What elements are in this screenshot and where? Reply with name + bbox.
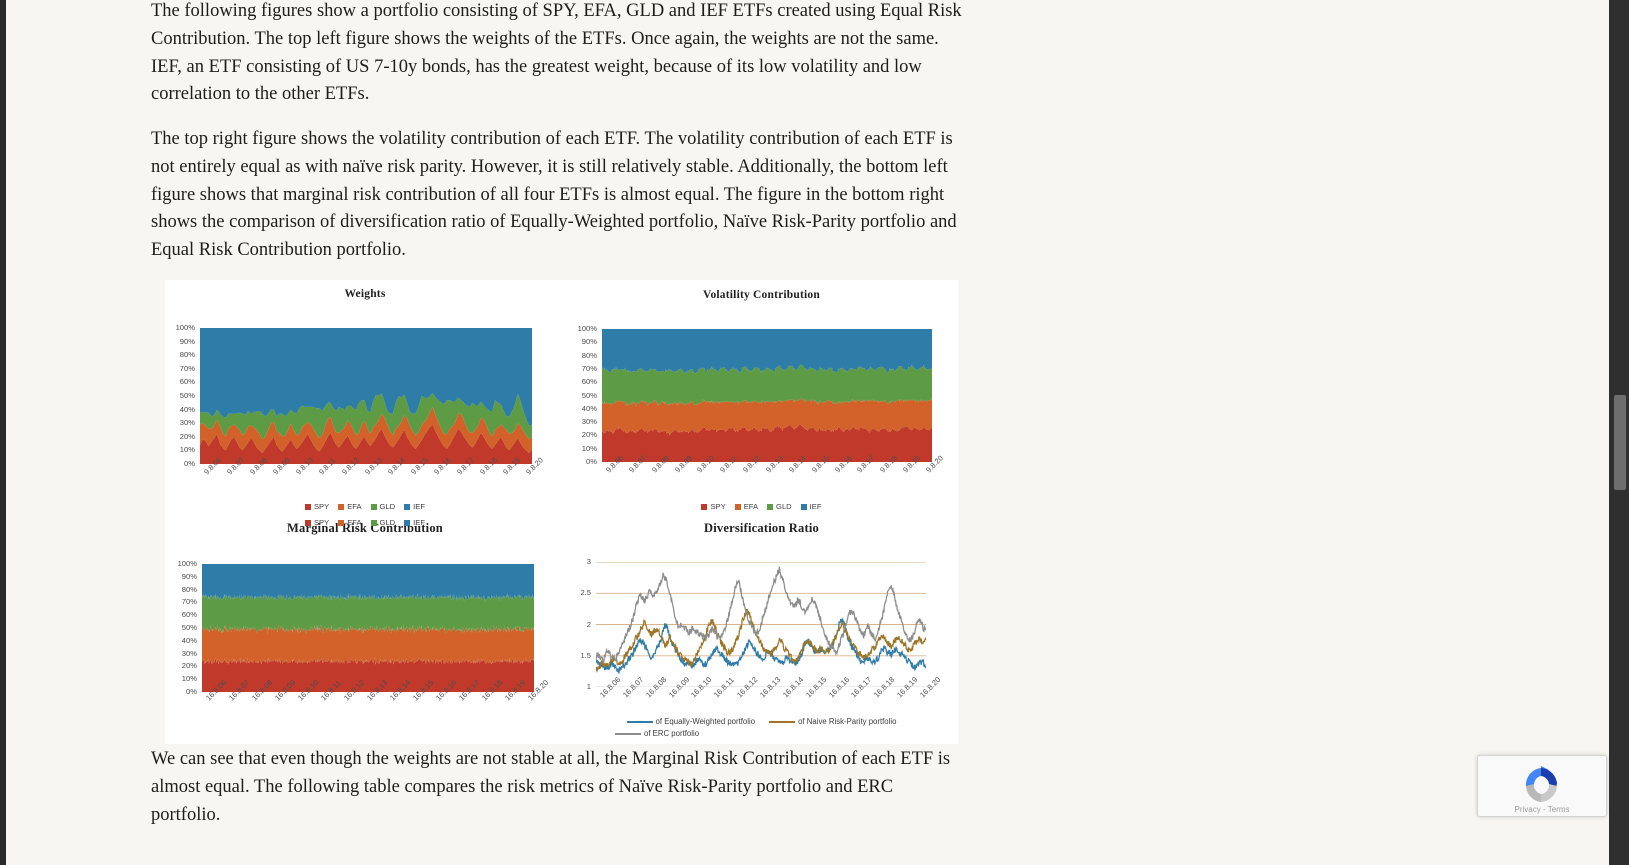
y-tick-label: 2.5: [580, 589, 591, 597]
chart-volatility-y-axis: 0%10%20%30%40%50%60%70%80%90%100%: [565, 329, 597, 462]
y-tick-label: 80%: [182, 586, 197, 594]
legend-label: of ERC portfolio: [644, 728, 699, 740]
y-tick-label: 40%: [582, 405, 597, 413]
y-tick-label: 0%: [186, 688, 197, 696]
page-root: The following figures show a portfolio c…: [0, 0, 1629, 865]
legend-item: GLD: [767, 502, 792, 511]
chart-weights-plot: [200, 328, 532, 464]
y-tick-label: 2: [587, 621, 591, 629]
legend-item: EFA: [735, 502, 758, 511]
legend-swatch: [305, 520, 311, 526]
recaptcha-logo-icon: [1518, 762, 1564, 808]
legend-label: SPY: [314, 502, 329, 511]
legend-item: SPY: [305, 502, 329, 511]
y-tick-label: 100%: [178, 560, 197, 568]
legend-swatch: [404, 520, 410, 526]
chart-weights-title: Weights: [165, 280, 565, 300]
legend-label: IEF: [413, 502, 425, 511]
stacked-area-svg: [202, 564, 534, 692]
chart-dr-plot: [596, 562, 926, 687]
legend-label: EFA: [347, 502, 361, 511]
legend-item: GLD: [371, 502, 396, 511]
chart-mrc-legend: SPYEFAGLDIEF: [165, 518, 565, 527]
y-tick-label: 20%: [182, 663, 197, 671]
chart-marginal-risk-contribution: Marginal Risk Contribution 0%10%20%30%40…: [165, 518, 565, 744]
chart-weights-legend: SPYEFAGLDIEF: [165, 502, 565, 511]
legend-label: GLD: [380, 518, 396, 527]
legend-swatch: [404, 504, 410, 510]
legend-swatch: [338, 520, 344, 526]
chart-dr-legend: of Equally-Weighted portfolioof Naive Ri…: [565, 716, 958, 740]
y-tick-label: 30%: [180, 419, 195, 427]
y-tick-label: 10%: [180, 447, 195, 455]
legend-line: [615, 733, 641, 735]
y-tick-label: 50%: [180, 392, 195, 400]
y-tick-label: 30%: [582, 418, 597, 426]
chart-weights-y-axis: 0%10%20%30%40%50%60%70%80%90%100%: [165, 328, 195, 464]
legend-item: EFA: [338, 518, 361, 527]
legend-item: IEF: [404, 518, 425, 527]
paragraph-conclusion: We can see that even though the weights …: [151, 746, 966, 829]
legend-label: SPY: [710, 502, 725, 511]
legend-row: of Equally-Weighted portfolioof Naive Ri…: [565, 716, 958, 728]
area-series-spy: [602, 424, 932, 462]
chart-volatility-plot: [602, 329, 932, 462]
chart-mrc-y-axis: 0%10%20%30%40%50%60%70%80%90%100%: [165, 564, 197, 692]
y-tick-label: 70%: [582, 365, 597, 373]
legend-label: IEF: [413, 518, 425, 527]
recaptcha-footer: Privacy - Terms: [1478, 805, 1606, 814]
y-tick-label: 0%: [184, 460, 195, 468]
legend-line: [769, 721, 795, 723]
area-series-ief: [602, 329, 932, 373]
area-series-spy: [202, 657, 534, 692]
y-tick-label: 80%: [582, 352, 597, 360]
y-tick-label: 100%: [578, 325, 597, 333]
chart-dr-y-axis: 11.522.53: [565, 562, 591, 687]
legend-item: GLD: [371, 518, 396, 527]
chart-mrc-x-axis: 16.8.0616.8.0716.8.0816.8.0916.8.1016.8.…: [202, 696, 534, 736]
stacked-area-svg: [200, 328, 532, 464]
legend-item: of Naive Risk-Parity portfolio: [769, 716, 896, 728]
chart-dr-title: Diversification Ratio: [565, 518, 958, 536]
legend-label: EFA: [744, 502, 758, 511]
area-series-efa: [202, 624, 534, 664]
legend-swatch: [305, 504, 311, 510]
legend-swatch: [767, 504, 773, 510]
y-tick-label: 100%: [176, 324, 195, 332]
y-tick-label: 30%: [182, 650, 197, 658]
stacked-area-svg: [602, 329, 932, 462]
legend-label: GLD: [380, 502, 396, 511]
chart-volatility-contribution: Volatility Contribution 0%10%20%30%40%50…: [565, 283, 958, 518]
y-tick-label: 90%: [180, 338, 195, 346]
legend-item: of Equally-Weighted portfolio: [627, 716, 756, 728]
y-tick-label: 10%: [582, 445, 597, 453]
legend-label: of Equally-Weighted portfolio: [656, 716, 756, 728]
y-tick-label: 1.5: [580, 652, 591, 660]
paragraph-volatility: The top right figure shows the volatilit…: [151, 126, 966, 265]
line-chart-svg: [596, 562, 926, 687]
y-tick-label: 50%: [582, 392, 597, 400]
legend-line: [627, 721, 653, 723]
y-tick-label: 90%: [182, 573, 197, 581]
y-tick-label: 60%: [182, 611, 197, 619]
line-series: [596, 609, 926, 671]
y-tick-label: 10%: [182, 675, 197, 683]
chart-weights: Weights 0%10%20%30%40%50%60%70%80%90%100…: [165, 280, 565, 518]
legend-item: IEF: [801, 502, 822, 511]
y-tick-label: 3: [587, 558, 591, 566]
y-tick-label: 80%: [180, 351, 195, 359]
legend-label: of Naive Risk-Parity portfolio: [798, 716, 896, 728]
chart-mrc-plot: [202, 564, 534, 692]
paragraph-intro: The following figures show a portfolio c…: [151, 0, 969, 109]
legend-swatch: [801, 504, 807, 510]
y-tick-label: 0%: [586, 458, 597, 466]
legend-swatch: [338, 504, 344, 510]
legend-swatch: [701, 504, 707, 510]
y-tick-label: 20%: [180, 433, 195, 441]
y-tick-label: 20%: [582, 432, 597, 440]
figure-erc-charts: Weights 0%10%20%30%40%50%60%70%80%90%100…: [165, 280, 958, 744]
legend-label: IEF: [810, 502, 822, 511]
y-tick-label: 40%: [180, 406, 195, 414]
page-left-edge: [0, 0, 6, 865]
y-tick-label: 60%: [582, 378, 597, 386]
legend-item: SPY: [305, 518, 329, 527]
legend-label: GLD: [776, 502, 792, 511]
chart-diversification-ratio: Diversification Ratio 11.522.53 16.8.061…: [565, 518, 958, 744]
chart-volatility-legend: SPYEFAGLDIEF: [565, 502, 958, 511]
legend-item: of ERC portfolio: [615, 728, 699, 740]
legend-item: SPY: [701, 502, 725, 511]
y-tick-label: 1: [587, 683, 591, 691]
area-series-gld: [602, 365, 932, 407]
legend-label: SPY: [314, 518, 329, 527]
legend-item: EFA: [338, 502, 361, 511]
legend-swatch: [371, 520, 377, 526]
legend-label: EFA: [347, 518, 361, 527]
y-tick-label: 40%: [182, 637, 197, 645]
legend-swatch: [371, 504, 377, 510]
chart-volatility-title: Volatility Contribution: [565, 283, 958, 301]
legend-item: IEF: [404, 502, 425, 511]
legend-swatch: [735, 504, 741, 510]
recaptcha-badge[interactable]: Privacy - Terms: [1477, 755, 1607, 817]
y-tick-label: 60%: [180, 379, 195, 387]
y-tick-label: 50%: [182, 624, 197, 632]
scrollbar-thumb[interactable]: [1614, 395, 1626, 490]
window-scrollbar[interactable]: [1609, 0, 1629, 865]
y-tick-label: 90%: [582, 339, 597, 347]
legend-row: of ERC portfolio: [565, 728, 958, 740]
y-tick-label: 70%: [180, 365, 195, 373]
y-tick-label: 70%: [182, 599, 197, 607]
